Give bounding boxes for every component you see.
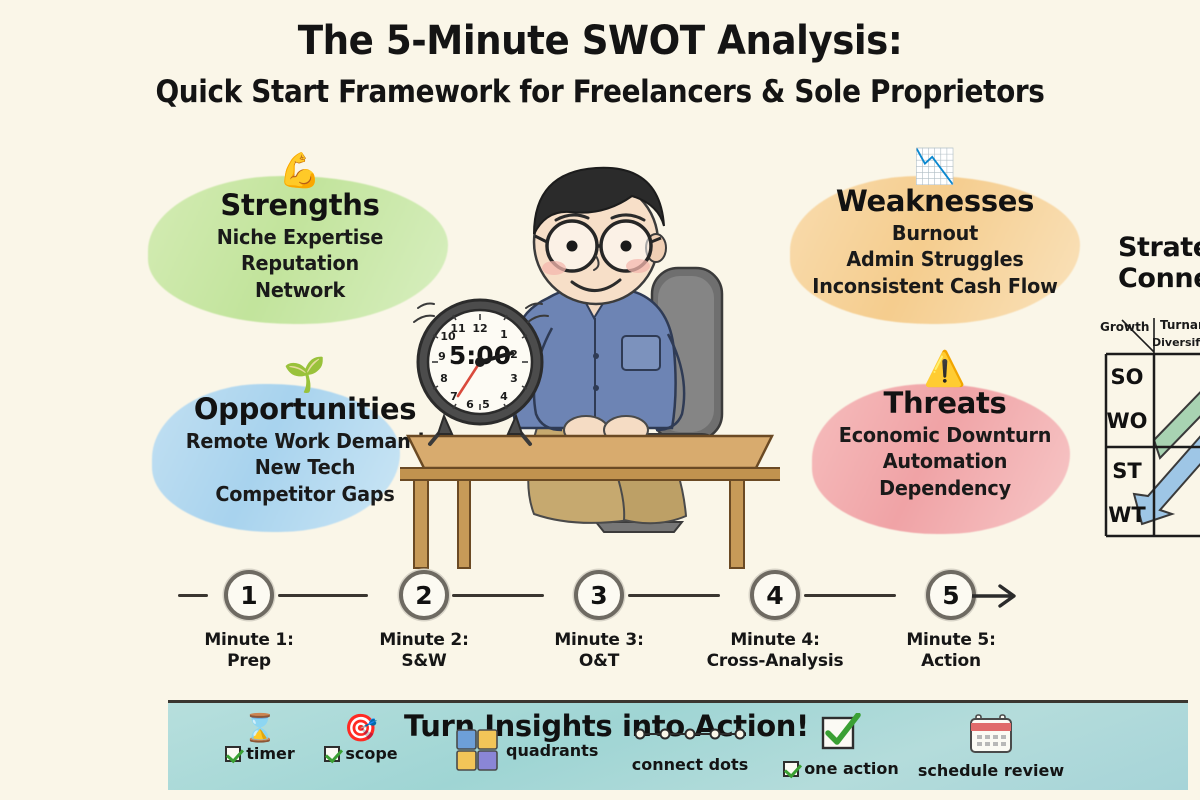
matrix-axis-label-diversification: Diversification bbox=[1152, 336, 1200, 349]
quadrant-threats[interactable]: ⚠️ Threats Economic Downturn Automation … bbox=[800, 352, 1090, 501]
svg-text:7: 7 bbox=[450, 390, 458, 403]
matrix-axis-label-turnaround: Turnaround bbox=[1160, 318, 1200, 332]
warning-triangle-icon: ⚠️ bbox=[800, 352, 1090, 386]
chip-schedule-review-label: schedule review bbox=[918, 761, 1064, 780]
quadrant-threats-title: Threats bbox=[800, 388, 1090, 420]
svg-text:11: 11 bbox=[450, 322, 465, 335]
svg-text:12: 12 bbox=[472, 322, 487, 335]
four-quadrants-icon bbox=[456, 729, 498, 771]
chip-scope[interactable]: 🎯 scope bbox=[316, 715, 406, 763]
clock-icon-5: 5 bbox=[926, 570, 976, 620]
clock-icon-3: 3 bbox=[574, 570, 624, 620]
timeline-step-3-label-line2: O&T bbox=[524, 651, 674, 672]
chip-timer[interactable]: ⌛ timer bbox=[218, 715, 302, 763]
person-at-desk-illustration: 1212 345 678 91011 5:00 bbox=[400, 150, 780, 570]
matrix-cell-wo: WO bbox=[1104, 400, 1150, 442]
timeline-step-5-label-line1: Minute 5: bbox=[876, 630, 1026, 651]
strategic-connections-panel[interactable]: Strategic Connections bbox=[1118, 232, 1200, 294]
timeline-step-5-label-line2: Action bbox=[876, 651, 1026, 672]
quadrant-weaknesses-items: Burnout Admin Struggles Inconsistent Cas… bbox=[790, 220, 1080, 299]
timeline-step-1-number: 1 bbox=[240, 583, 257, 608]
clock-icon-2: 2 bbox=[399, 570, 449, 620]
call-to-action-banner: Turn Insights into Action! ⌛ timer 🎯 sco… bbox=[168, 700, 1188, 790]
timeline-step-1-label-line2: Prep bbox=[174, 651, 324, 672]
timeline-step-5-number: 5 bbox=[942, 583, 959, 608]
check-mark-icon bbox=[821, 713, 861, 753]
list-item: Dependency bbox=[806, 475, 1084, 501]
timeline-step-3[interactable]: 3 Minute 3: O&T bbox=[524, 570, 674, 673]
checkbox-one-action[interactable] bbox=[783, 761, 799, 777]
infographic-canvas: The 5-Minute SWOT Analysis: Quick Start … bbox=[0, 0, 1200, 800]
timeline-step-2-number: 2 bbox=[415, 583, 432, 608]
svg-text:5: 5 bbox=[482, 398, 490, 411]
matrix-cell-st: ST bbox=[1104, 450, 1150, 492]
svg-text:1: 1 bbox=[500, 328, 508, 341]
strategic-title-line2: Connections bbox=[1118, 263, 1200, 294]
list-item: Inconsistent Cash Flow bbox=[796, 273, 1074, 299]
downward-trend-arrow-icon: 📉 bbox=[790, 150, 1080, 184]
svg-text:9: 9 bbox=[438, 350, 446, 363]
timeline: 1 Minute 1: Prep 2 Minute 2: S&W 3 Minut… bbox=[0, 558, 1200, 688]
strategic-title-line1: Strategic bbox=[1118, 232, 1200, 263]
matrix-cell-so: SO bbox=[1104, 356, 1150, 398]
timeline-step-1[interactable]: 1 Minute 1: Prep bbox=[174, 570, 324, 673]
quadrant-threats-items: Economic Downturn Automation Dependency bbox=[800, 422, 1090, 501]
chip-connect-dots[interactable]: connect dots bbox=[620, 725, 760, 774]
checkbox-scope[interactable] bbox=[324, 746, 340, 762]
svg-text:6: 6 bbox=[466, 398, 474, 411]
title-subtitle: Quick Start Framework for Freelancers & … bbox=[60, 74, 1140, 110]
matrix-cell-wt: WT bbox=[1104, 494, 1150, 536]
page-title: The 5-Minute SWOT Analysis: Quick Start … bbox=[0, 20, 1200, 110]
timeline-step-3-number: 3 bbox=[590, 583, 607, 608]
list-item: Automation bbox=[806, 448, 1084, 474]
connected-dots-icon bbox=[634, 725, 746, 743]
chip-one-action-label: one action bbox=[804, 759, 899, 778]
timeline-step-2[interactable]: 2 Minute 2: S&W bbox=[349, 570, 499, 673]
timeline-step-2-label-line1: Minute 2: bbox=[349, 630, 499, 651]
chip-one-action[interactable]: one action bbox=[768, 713, 914, 778]
quadrant-weaknesses-title: Weaknesses bbox=[790, 186, 1080, 218]
chip-schedule-review[interactable]: schedule review bbox=[906, 713, 1076, 780]
timeline-step-1-label-line1: Minute 1: bbox=[174, 630, 324, 651]
calendar-icon bbox=[969, 713, 1013, 755]
checkbox-timer[interactable] bbox=[225, 746, 241, 762]
title-main: The 5-Minute SWOT Analysis: bbox=[42, 20, 1158, 62]
chip-quadrants[interactable]: quadrants bbox=[456, 729, 606, 771]
chip-timer-label: timer bbox=[246, 744, 295, 763]
strategic-matrix[interactable]: SO WO ST WT bbox=[1098, 318, 1200, 540]
matrix-axis-label-growth: Growth bbox=[1100, 320, 1149, 334]
list-item: Burnout bbox=[796, 220, 1074, 246]
dart-target-icon: 🎯 bbox=[316, 715, 406, 742]
svg-text:4: 4 bbox=[500, 390, 508, 403]
timeline-end-arrow-icon bbox=[972, 582, 1026, 610]
chip-scope-label: scope bbox=[345, 744, 397, 763]
timeline-step-4-number: 4 bbox=[766, 583, 783, 608]
svg-text:3: 3 bbox=[510, 372, 518, 385]
quadrant-weaknesses[interactable]: 📉 Weaknesses Burnout Admin Struggles Inc… bbox=[790, 150, 1080, 299]
timeline-step-4-label-line1: Minute 4: bbox=[700, 630, 850, 651]
timeline-step-4[interactable]: 4 Minute 4: Cross-Analysis bbox=[700, 570, 850, 673]
svg-text:8: 8 bbox=[440, 372, 448, 385]
clock-icon-4: 4 bbox=[750, 570, 800, 620]
clock-icon-1: 1 bbox=[224, 570, 274, 620]
timeline-step-3-label-line1: Minute 3: bbox=[524, 630, 674, 651]
list-item: Admin Struggles bbox=[796, 246, 1074, 272]
hourglass-icon: ⌛ bbox=[218, 715, 302, 742]
timeline-step-4-label-line2: Cross-Analysis bbox=[700, 651, 850, 672]
chip-quadrants-label: quadrants bbox=[506, 741, 598, 760]
timeline-step-2-label-line2: S&W bbox=[349, 651, 499, 672]
chip-connect-dots-label: connect dots bbox=[632, 755, 748, 774]
list-item: Economic Downturn bbox=[806, 422, 1084, 448]
